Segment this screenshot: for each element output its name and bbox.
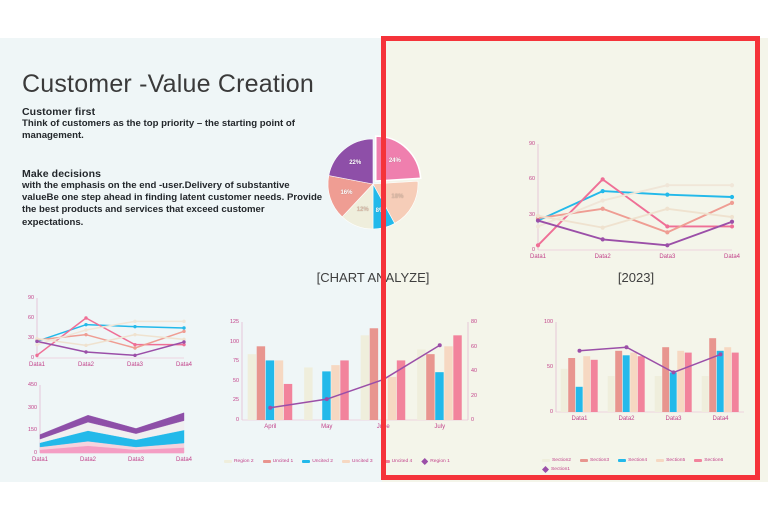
x-axis-tick: June <box>377 424 390 430</box>
legend-swatch-icon <box>224 460 232 463</box>
y2-axis-tick: 20 <box>471 393 477 399</box>
legend-swatch-icon <box>342 460 350 463</box>
y-axis-tick: 100 <box>222 339 239 345</box>
y-axis-tick: 60 <box>520 176 535 182</box>
legend-item[interactable]: Section5 <box>656 458 685 463</box>
line-chart-small: 0306090Data1Data2Data3Data4 <box>22 293 190 371</box>
legend-marker-diamond-icon <box>421 458 428 465</box>
x-axis-tick: May <box>321 424 332 430</box>
legend-item[interactable]: Uncited 4 <box>382 458 413 465</box>
y-axis-tick: 25 <box>222 397 239 403</box>
pie-slice-label: 18% <box>391 194 403 200</box>
x-axis-tick: Data3 <box>659 254 675 260</box>
y-axis-tick: 300 <box>22 405 37 411</box>
bar-chart-months: 0255075100125020406080AprilMayJuneJuly <box>222 316 490 438</box>
y-axis-tick: 0 <box>536 409 553 415</box>
legend-label: Region 2 <box>234 459 254 464</box>
pie-slice-label: 8% <box>376 208 385 214</box>
x-axis-tick: Data4 <box>724 254 740 260</box>
legend-label: Section3 <box>590 458 609 463</box>
legend-item[interactable]: Region 1 <box>421 458 450 465</box>
caption-2023: [2023] <box>618 270 654 285</box>
y-axis-tick: 60 <box>22 315 34 321</box>
legend-item[interactable]: Section3 <box>580 458 609 463</box>
x-axis-tick: Data3 <box>665 416 681 422</box>
x-axis-tick: April <box>264 424 276 430</box>
x-axis-tick: Data2 <box>595 254 611 260</box>
pie-chart: 24%18%8%12%16%22% <box>318 128 428 240</box>
x-axis-tick: Data3 <box>128 457 144 463</box>
legend-item[interactable]: Section4 <box>618 458 647 463</box>
x-axis-tick: Data1 <box>29 362 45 368</box>
y2-axis-tick: 40 <box>471 368 477 374</box>
legend-label: Uncited 4 <box>392 459 413 464</box>
bar-chart-sections: 050100Data1Data2Data3Data4 <box>536 316 750 428</box>
x-axis-tick: Data2 <box>618 416 634 422</box>
legend-swatch-icon <box>618 459 626 462</box>
y2-axis-tick: 0 <box>471 417 474 423</box>
pie-slice-label: 16% <box>340 190 352 196</box>
legend-label: Section6 <box>704 458 723 463</box>
y-axis-tick: 150 <box>22 427 37 433</box>
y2-axis-tick: 80 <box>471 319 477 325</box>
line-chart-2023: 0306090Data1Data2Data3Data4 <box>520 138 740 266</box>
legend-bar-chart-months: Region 2Uncited 1Uncited 2Uncited 3Uncit… <box>224 458 500 468</box>
legend-item[interactable]: Section2 <box>542 458 571 463</box>
legend-item[interactable]: Region 2 <box>224 458 254 465</box>
y-axis-tick: 450 <box>22 382 37 388</box>
legend-label: Section5 <box>666 458 685 463</box>
block-body: with the emphasis on the end -user.Deliv… <box>22 180 327 229</box>
y-axis-tick: 75 <box>222 358 239 364</box>
pie-slice-label: 24% <box>389 158 401 164</box>
y-axis-tick: 90 <box>520 141 535 147</box>
page-title: Customer -Value Creation <box>22 70 314 99</box>
y-axis-tick: 0 <box>22 355 34 361</box>
presentation-slide: Customer -Value Creation Customer first … <box>0 38 768 482</box>
x-axis-tick: Data4 <box>176 362 192 368</box>
pie-slice-label: 22% <box>349 160 361 166</box>
legend-item[interactable]: Section1 <box>542 466 570 473</box>
legend-label: Uncited 2 <box>312 459 333 464</box>
stacked-area-chart: 0150300450Data1Data2Data3Data4 <box>22 380 190 466</box>
block-heading: Make decisions <box>22 168 327 180</box>
text-block-make-decisions: Make decisions with the emphasis on the … <box>22 168 327 229</box>
legend-swatch-icon <box>382 460 390 463</box>
x-axis-tick: Data1 <box>32 457 48 463</box>
legend-marker-diamond-icon <box>542 466 549 473</box>
y-axis-tick: 50 <box>536 364 553 370</box>
y-axis-tick: 100 <box>536 319 553 325</box>
legend-label: Uncited 3 <box>352 459 373 464</box>
legend-swatch-icon <box>542 459 550 462</box>
y-axis-tick: 50 <box>222 378 239 384</box>
legend-swatch-icon <box>694 459 702 462</box>
legend-swatch-icon <box>263 460 271 463</box>
pie-slice-label: 12% <box>357 207 369 213</box>
legend-item[interactable]: Section6 <box>694 458 723 463</box>
x-axis-tick: Data1 <box>571 416 587 422</box>
x-axis-tick: Data4 <box>176 457 192 463</box>
x-axis-tick: Data1 <box>530 254 546 260</box>
y-axis-tick: 125 <box>222 319 239 325</box>
screenshot-canvas: Customer -Value Creation Customer first … <box>0 0 768 512</box>
y-axis-tick: 30 <box>22 335 34 341</box>
legend-item[interactable]: Uncited 1 <box>263 458 294 465</box>
text-block-customer-first: Customer first Think of customers as the… <box>22 106 322 142</box>
x-axis-tick: Data2 <box>80 457 96 463</box>
legend-item[interactable]: Uncited 3 <box>342 458 373 465</box>
legend-swatch-icon <box>656 459 664 462</box>
legend-label: Section2 <box>552 458 571 463</box>
legend-label: Section4 <box>628 458 647 463</box>
y-axis-tick: 90 <box>22 295 34 301</box>
block-heading: Customer first <box>22 106 322 118</box>
legend-swatch-icon <box>302 460 310 463</box>
x-axis-tick: Data4 <box>712 416 728 422</box>
legend-label: Section1 <box>551 467 570 472</box>
pie-chart-svg <box>318 128 428 240</box>
x-axis-tick: Data2 <box>78 362 94 368</box>
x-axis-tick: July <box>434 424 445 430</box>
y-axis-tick: 0 <box>222 417 239 423</box>
y-axis-tick: 30 <box>520 212 535 218</box>
x-axis-tick: Data3 <box>127 362 143 368</box>
legend-label: Uncited 1 <box>273 459 294 464</box>
legend-bar-chart-sections: Section2Section3Section4Section5Section6… <box>542 458 742 476</box>
caption-chart-analyze: [CHART ANALYZE] <box>317 270 430 285</box>
legend-swatch-icon <box>580 459 588 462</box>
legend-item[interactable]: Uncited 2 <box>302 458 333 465</box>
block-body: Think of customers as the top priority –… <box>22 118 322 142</box>
y-axis-tick: 0 <box>22 450 37 456</box>
legend-label: Region 1 <box>430 459 450 464</box>
y-axis-tick: 0 <box>520 247 535 253</box>
y2-axis-tick: 60 <box>471 344 477 350</box>
